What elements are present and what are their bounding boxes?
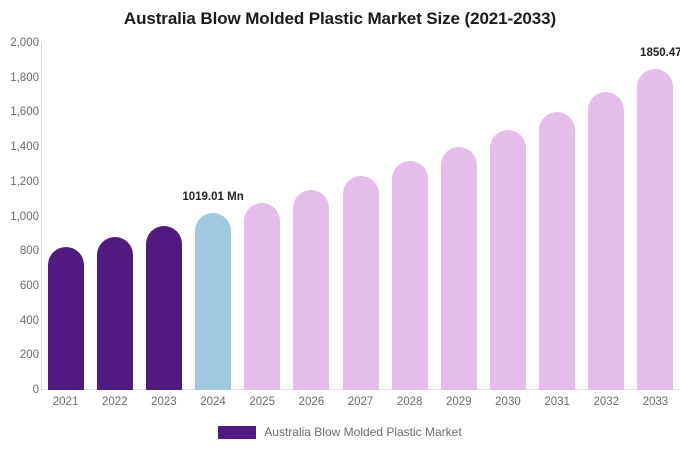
x-axis-tick-label-2033: 2033	[625, 396, 680, 408]
bar-rect-2028[interactable]	[392, 161, 428, 390]
bar-rect-2029[interactable]	[441, 147, 477, 390]
bar-2024[interactable]: 1019.01 Mn	[195, 43, 231, 390]
bar-rect-2033[interactable]	[637, 69, 673, 390]
bar-rect-2023[interactable]	[146, 226, 182, 390]
y-axis-tick-label: 200	[5, 349, 39, 361]
bar-2031[interactable]	[539, 43, 575, 390]
bar-rect-2025[interactable]	[244, 203, 280, 390]
bar-2025[interactable]	[244, 43, 280, 390]
y-axis-tick-label: 800	[5, 245, 39, 257]
chart-container: Australia Blow Molded Plastic Market Siz…	[0, 0, 680, 450]
bar-value-label-2033: 1850.47 Mn	[640, 47, 680, 59]
bar-2028[interactable]	[392, 43, 428, 390]
y-axis-tick-label: 1,000	[5, 211, 39, 223]
chart-title: Australia Blow Molded Plastic Market Siz…	[0, 9, 680, 29]
y-axis-tick-label: 0	[5, 384, 39, 396]
bar-rect-2022[interactable]	[97, 237, 133, 390]
chart-legend: Australia Blow Molded Plastic Market	[0, 425, 680, 439]
y-axis-tick-label: 1,800	[5, 72, 39, 84]
bar-rect-2032[interactable]	[588, 92, 624, 390]
bar-value-label-2024: 1019.01 Mn	[182, 191, 243, 203]
y-axis-tick-label: 1,600	[5, 106, 39, 118]
y-axis-tick-label: 400	[5, 315, 39, 327]
bar-2022[interactable]	[97, 43, 133, 390]
y-axis-tick-label: 1,400	[5, 141, 39, 153]
bar-2029[interactable]	[441, 43, 477, 390]
bar-2027[interactable]	[343, 43, 379, 390]
bar-2023[interactable]	[146, 43, 182, 390]
bar-rect-2027[interactable]	[343, 176, 379, 390]
y-axis: 02004006008001,0001,2001,4001,6001,8002,…	[0, 43, 39, 390]
y-axis-tick-label: 1,200	[5, 176, 39, 188]
legend-swatch-australia-blow-molded-plastic-market	[218, 426, 256, 439]
bar-rect-2030[interactable]	[490, 130, 526, 390]
bar-2030[interactable]	[490, 43, 526, 390]
bar-2032[interactable]	[588, 43, 624, 390]
bar-2026[interactable]	[293, 43, 329, 390]
y-axis-tick-label: 2,000	[5, 37, 39, 49]
y-axis-tick-label: 600	[5, 280, 39, 292]
bar-rect-2024[interactable]	[195, 213, 231, 390]
bar-rect-2026[interactable]	[293, 190, 329, 390]
legend-label-australia-blow-molded-plastic-market: Australia Blow Molded Plastic Market	[264, 425, 461, 439]
bar-2021[interactable]	[48, 43, 84, 390]
bar-rect-2031[interactable]	[539, 112, 575, 390]
plot-area: 1019.01 Mn1850.47 Mn	[41, 43, 680, 390]
bar-2033[interactable]: 1850.47 Mn	[637, 43, 673, 390]
bar-rect-2021[interactable]	[48, 247, 84, 390]
